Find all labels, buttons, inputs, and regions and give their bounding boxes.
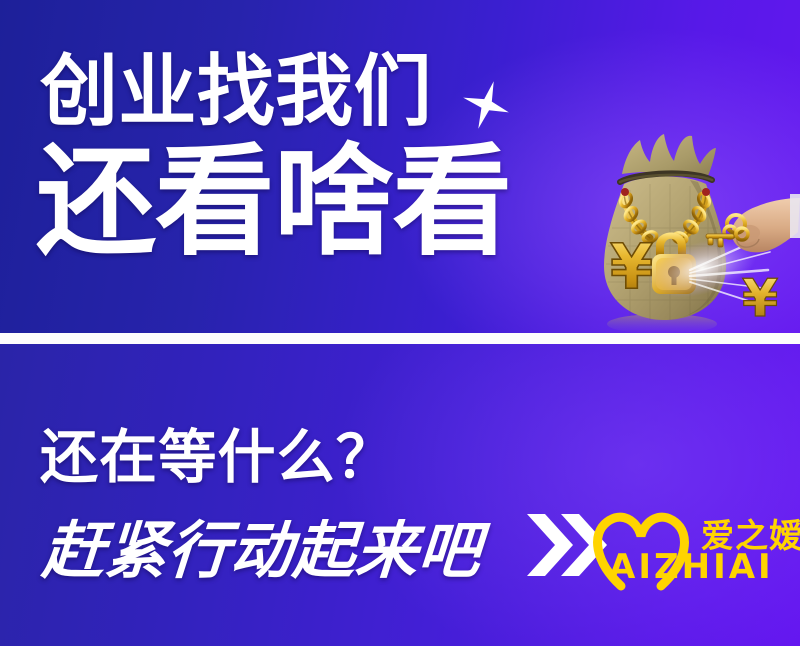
hand-with-key xyxy=(706,194,800,252)
promo-banner: 创业找我们 还看啥看 xyxy=(0,0,800,646)
top-headline-line-2: 还看啥看 xyxy=(36,138,511,268)
svg-text:¥: ¥ xyxy=(610,230,653,303)
section-divider xyxy=(0,333,800,344)
bottom-panel xyxy=(0,344,800,646)
brand-chinese-text: 爱之嫒 xyxy=(701,516,800,555)
bag-yen-symbol: ¥ xyxy=(610,230,653,303)
bottom-headline-line-2: 赶紧行动起来吧 xyxy=(40,516,483,586)
brand-logo[interactable]: AIZHIAI 爱之嫒 xyxy=(525,500,800,595)
bottom-headline-line-1: 还在等什么？ xyxy=(40,424,395,490)
top-headline-line-1: 创业找我们 xyxy=(40,48,432,136)
four-point-sparkle-icon xyxy=(462,80,510,130)
svg-text:¥: ¥ xyxy=(742,269,778,328)
floating-yen-symbol: ¥ xyxy=(740,264,790,328)
locked-money-bag-illustration: ¥ xyxy=(590,128,800,333)
top-panel: 创业找我们 还看啥看 xyxy=(0,0,800,333)
